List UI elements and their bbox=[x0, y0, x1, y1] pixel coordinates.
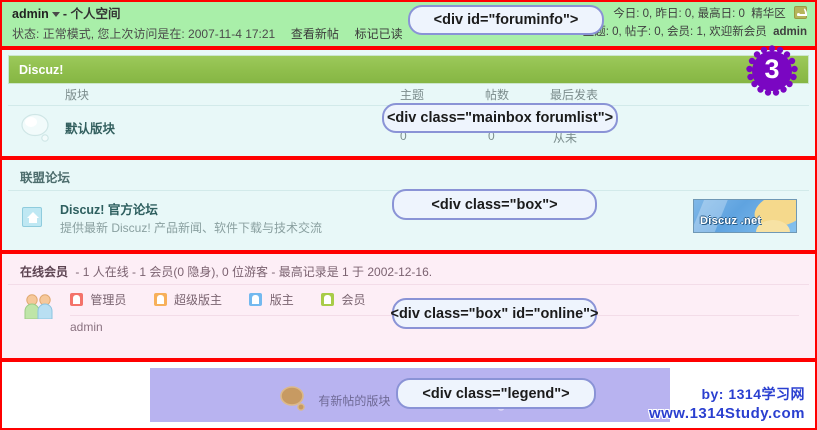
chevron-down-icon[interactable] bbox=[52, 12, 60, 17]
forum-stats-line1: 今日: 0, 昨日: 0, 最高日: 0 精华区 bbox=[583, 5, 807, 23]
group-icon bbox=[249, 293, 262, 306]
group-icon bbox=[321, 293, 334, 306]
forum-category-title: Discuz! bbox=[19, 63, 63, 77]
mark-read-link[interactable]: 标记已读 bbox=[355, 27, 403, 41]
group-label: 会员 bbox=[341, 293, 365, 307]
rss-icon[interactable] bbox=[794, 6, 807, 19]
online-user-list: admin bbox=[70, 320, 103, 334]
new-member-link[interactable]: admin bbox=[773, 26, 807, 38]
forum-category-header[interactable]: Discuz! ▲ bbox=[8, 55, 809, 84]
group-label: 管理员 bbox=[90, 293, 126, 307]
online-user-name[interactable]: admin bbox=[70, 320, 103, 334]
group-icon bbox=[154, 293, 167, 306]
digest-link[interactable]: 精华区 bbox=[751, 8, 786, 20]
group-item[interactable]: 会员 bbox=[321, 291, 365, 308]
forum-stats-line2: 主题: 0, 帖子: 0, 会员: 1, 欢迎新会员 admin bbox=[583, 23, 807, 41]
column-header-name: 版块 bbox=[65, 84, 89, 106]
two-people-icon bbox=[22, 293, 56, 319]
status-text: 正常模式, 您上次访问是在: bbox=[43, 27, 185, 41]
discuz-net-banner[interactable]: Discuz .net bbox=[693, 199, 797, 233]
callout-legend: <div class="legend"> bbox=[396, 378, 596, 409]
callout-foruminfo: <div id="foruminfo"> bbox=[408, 5, 604, 35]
stats-today: 今日: 0, 昨日: 0, 最高日: 0 bbox=[613, 8, 745, 20]
online-summary: - 1 人在线 - 1 会员(0 隐身), 0 位游客 - 最高记录是 1 于 … bbox=[75, 265, 432, 279]
watermark: by: 1314学习网 www.1314Study.com bbox=[649, 385, 805, 423]
online-title-row: 在线会员 - 1 人在线 - 1 会员(0 隐身), 0 位游客 - 最高记录是… bbox=[8, 259, 809, 285]
ally-forum-description: 提供最新 Discuz! 产品新闻、软件下载与技术交流 bbox=[60, 219, 322, 236]
badge-3: 3 bbox=[745, 44, 799, 98]
callout-mainbox-forumlist: <div class="mainbox forumlist"> bbox=[382, 103, 618, 133]
group-item[interactable]: 版主 bbox=[249, 291, 293, 308]
legend-label-new: 有新帖的版块 bbox=[318, 394, 390, 408]
online-title: 在线会员 bbox=[20, 265, 68, 279]
view-new-posts-link[interactable]: 查看新帖 bbox=[291, 27, 339, 41]
legend-item-new: 有新帖的版块 bbox=[280, 386, 390, 415]
watermark-line2: www.1314Study.com bbox=[649, 404, 805, 423]
group-label: 超级版主 bbox=[174, 293, 222, 307]
watermark-line1: by: 1314学习网 bbox=[649, 385, 805, 404]
personal-space-label[interactable]: - 个人空间 bbox=[63, 7, 121, 21]
banner-label: Discuz .net bbox=[700, 215, 761, 227]
callout-box: <div class="box"> bbox=[392, 189, 597, 220]
group-item[interactable]: 超级版主 bbox=[154, 291, 222, 308]
callout-box-online: <div class="box" id="online"> bbox=[392, 298, 597, 329]
stats-totals: 主题: 0, 帖子: 0, 会员: 1, 欢迎新会员 bbox=[583, 26, 767, 38]
allybox-title: 联盟论坛 bbox=[8, 165, 809, 191]
forum-bubble-icon bbox=[20, 113, 54, 143]
username-link[interactable]: admin bbox=[12, 7, 49, 21]
group-icon bbox=[70, 293, 83, 306]
online-user[interactable]: admin bbox=[70, 320, 103, 334]
page-root: admin- 个人空间 状态: 正常模式, 您上次访问是在: 2007-11-4… bbox=[0, 0, 817, 430]
forum-name-link[interactable]: 默认版块 bbox=[65, 118, 115, 137]
forum-stats: 今日: 0, 昨日: 0, 最高日: 0 精华区 主题: 0, 帖子: 0, 会… bbox=[583, 5, 807, 41]
home-icon bbox=[22, 207, 42, 227]
last-visit-time: 2007-11-4 17:21 bbox=[188, 27, 275, 41]
ally-forum-name-link[interactable]: Discuz! 官方论坛 bbox=[60, 199, 158, 218]
group-label: 版主 bbox=[270, 293, 294, 307]
group-item[interactable]: 管理员 bbox=[70, 291, 126, 308]
status-prefix: 状态: bbox=[12, 27, 39, 41]
bubble-new-icon bbox=[280, 386, 308, 415]
badge-number: 3 bbox=[745, 56, 799, 83]
